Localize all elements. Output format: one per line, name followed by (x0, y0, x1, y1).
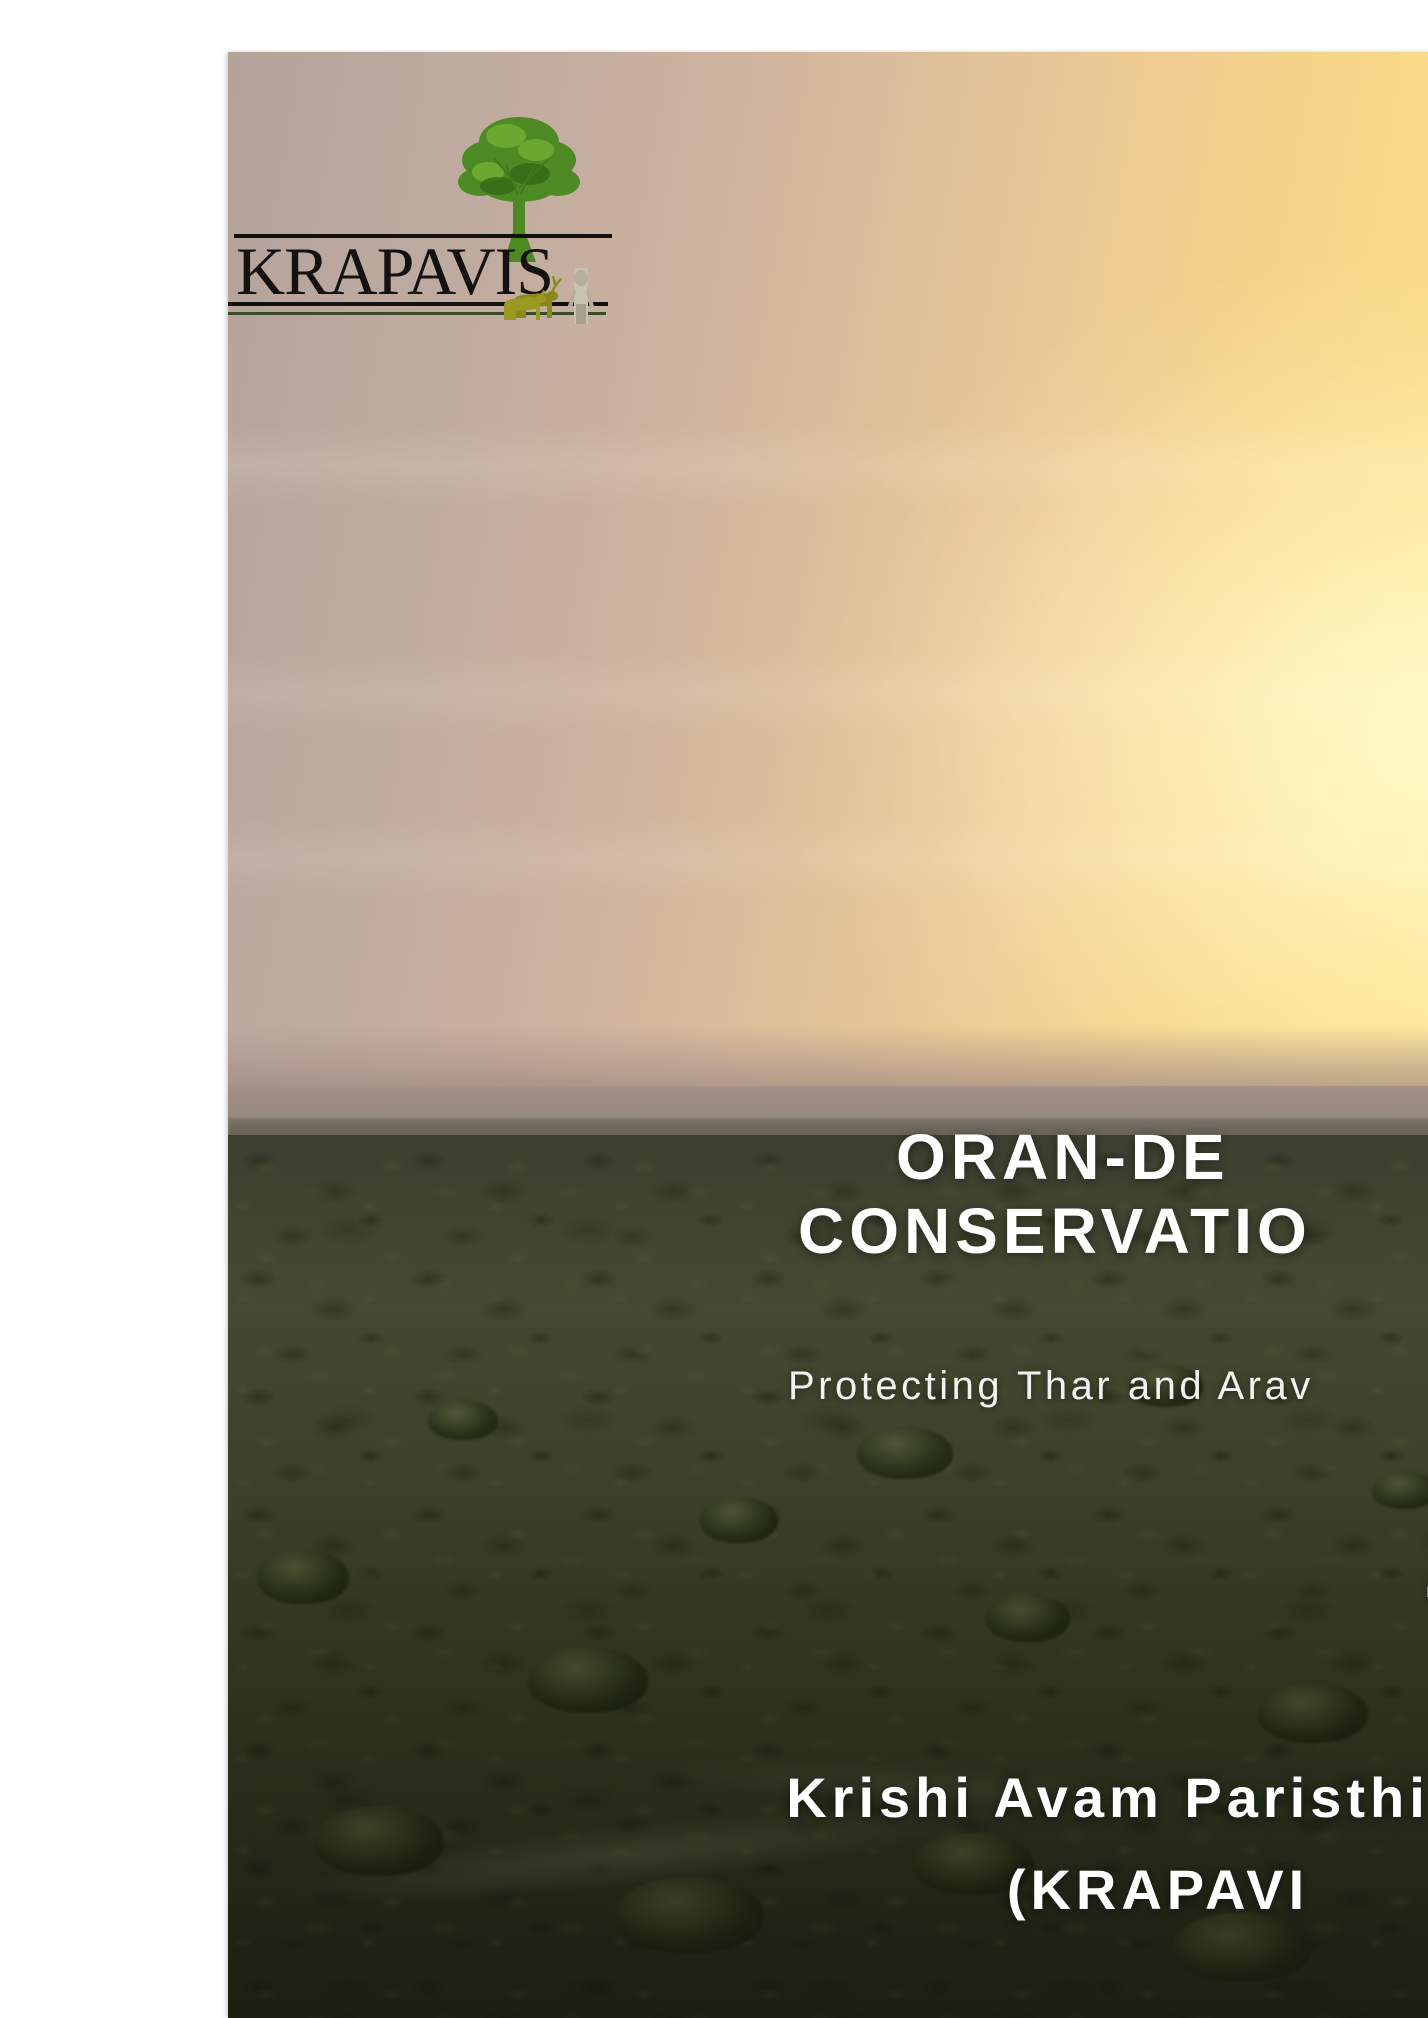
shrub (857, 1427, 953, 1479)
org-name-line-1: Krishi Avam Paristhi (228, 1752, 1428, 1844)
shrub (1372, 1471, 1428, 1509)
shrub (986, 1594, 1070, 1642)
cover-title: ORAN-DE CONSERVATIO (788, 1120, 1428, 1268)
shrub (257, 1550, 349, 1604)
title-line-2: CONSERVATIO (788, 1194, 1428, 1268)
logo-wordmark: KRAPAVIS (228, 232, 618, 318)
cover-year: 20 (1424, 1502, 1428, 1622)
shrub (528, 1647, 648, 1713)
krapavis-logo: KRAPAVIS (228, 102, 628, 352)
shrub (1258, 1683, 1368, 1743)
deer-and-person-icons (496, 266, 602, 326)
cover-subtitle: Protecting Thar and Arav (788, 1364, 1428, 1409)
organization-name: Krishi Avam Paristhi (KRAPAVI (228, 1752, 1428, 1936)
title-line-1: ORAN-DE (788, 1120, 1428, 1194)
org-name-acronym: (KRAPAVI (228, 1844, 1428, 1936)
document-viewer[interactable]: KRAPAVIS (0, 0, 1428, 2018)
person-icon (568, 268, 594, 324)
cover-page: KRAPAVIS (228, 52, 1428, 2018)
shrub (428, 1400, 498, 1440)
shrub (700, 1497, 778, 1543)
